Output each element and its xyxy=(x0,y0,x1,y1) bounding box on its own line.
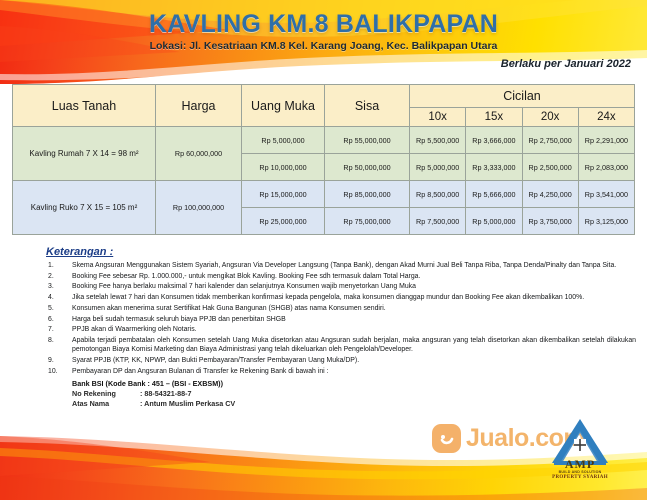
cell-luas-tanah: Kavling Ruko 7 X 15 = 105 m² xyxy=(13,181,156,235)
table-head: Luas Tanah Harga Uang Muka Sisa Cicilan … xyxy=(13,85,635,127)
bank-holder-label: Atas Nama xyxy=(72,399,140,408)
bank-account-value: : 88-54321-88-7 xyxy=(140,389,192,398)
list-item: 10.Pembayaran DP dan Angsuran Bulanan di… xyxy=(46,367,636,376)
cell-sisa: Rp 50,000,000 xyxy=(325,154,410,181)
list-item: 9.Syarat PPJB (KTP, KK, NPWP, dan Bukti … xyxy=(46,356,636,365)
list-item: 6.Harga beli sudah termasuk seluruh biay… xyxy=(46,315,636,324)
flyer-page: KAVLING KM.8 BALIKPAPAN Lokasi: Jl. Kesa… xyxy=(0,0,647,500)
amp-logo: AMP BUILD AND SOLUTION PROPERTY SYARIAH xyxy=(538,417,622,489)
location-subtitle: Lokasi: Jl. Kesatriaan KM.8 Kel. Karang … xyxy=(0,40,647,52)
bank-holder-value: : Antum Muslim Perkasa CV xyxy=(140,399,235,408)
list-item: 5.Konsumen akan menerima surat Sertifika… xyxy=(46,304,636,313)
cell-uang-muka: Rp 5,000,000 xyxy=(242,127,325,154)
cell-cicilan-10x: Rp 5,500,000 xyxy=(410,127,466,154)
cell-luas-tanah: Kavling Rumah 7 X 14 = 98 m² xyxy=(13,127,156,181)
list-item: 1.Skema Angsuran Menggunakan Sistem Syar… xyxy=(46,261,636,270)
list-item-number: 10. xyxy=(48,367,66,376)
col-header-tenor-20x: 20x xyxy=(522,108,578,127)
list-item-number: 1. xyxy=(48,261,66,270)
amp-tagline: BUILD AND SOLUTION xyxy=(538,470,622,474)
list-item-text: Skema Angsuran Menggunakan Sistem Syaria… xyxy=(72,262,616,269)
cell-cicilan-15x: Rp 5,000,000 xyxy=(466,208,522,235)
cell-uang-muka: Rp 15,000,000 xyxy=(242,181,325,208)
list-item-number: 6. xyxy=(48,315,66,324)
cell-cicilan-15x: Rp 3,666,000 xyxy=(466,127,522,154)
cell-cicilan-24x: Rp 2,083,000 xyxy=(578,154,634,181)
col-header-tenor-10x: 10x xyxy=(410,108,466,127)
jualo-smiley-icon xyxy=(432,424,461,453)
list-item: 3.Booking Fee hanya berlaku maksimal 7 h… xyxy=(46,282,636,291)
list-item-number: 5. xyxy=(48,304,66,313)
bank-name-line: Bank BSI (Kode Bank : 451 – (BSI - EXBSM… xyxy=(46,379,636,388)
col-header-tenor-24x: 24x xyxy=(578,108,634,127)
table-row: Kavling Rumah 7 X 14 = 98 m² Rp 60,000,0… xyxy=(13,127,635,154)
list-item-number: 4. xyxy=(48,293,66,302)
keterangan-section: Keterangan : 1.Skema Angsuran Menggunaka… xyxy=(46,246,636,408)
list-item-text: Booking Fee hanya berlaku maksimal 7 har… xyxy=(72,283,416,290)
cell-cicilan-15x: Rp 5,666,000 xyxy=(466,181,522,208)
list-item: 4.Jika setelah lewat 7 hari dan Konsumen… xyxy=(46,293,636,302)
list-item-text: Konsumen akan menerima surat Sertifikat … xyxy=(72,305,386,312)
list-item-text: Jika setelah lewat 7 hari dan Konsumen t… xyxy=(72,294,584,301)
list-item: 2.Booking Fee sebesar Rp. 1.000.000,- un… xyxy=(46,272,636,281)
list-item-text: PPJB akan di Waarmerking oleh Notaris. xyxy=(72,326,197,333)
cell-cicilan-10x: Rp 5,000,000 xyxy=(410,154,466,181)
cell-cicilan-20x: Rp 4,250,000 xyxy=(522,181,578,208)
list-item-number: 7. xyxy=(48,325,66,334)
header-banner: KAVLING KM.8 BALIKPAPAN Lokasi: Jl. Kesa… xyxy=(0,0,647,84)
col-header-uang-muka: Uang Muka xyxy=(242,85,325,127)
list-item-number: 3. xyxy=(48,282,66,291)
table-body: Kavling Rumah 7 X 14 = 98 m² Rp 60,000,0… xyxy=(13,127,635,235)
col-header-luas-tanah: Luas Tanah xyxy=(13,85,156,127)
list-item-text: Booking Fee sebesar Rp. 1.000.000,- untu… xyxy=(72,273,420,280)
amp-subtitle: PROPERTY SYARIAH xyxy=(538,475,622,480)
table-header-row-1: Luas Tanah Harga Uang Muka Sisa Cicilan xyxy=(13,85,635,108)
keterangan-title: Keterangan : xyxy=(46,246,636,258)
cell-uang-muka: Rp 25,000,000 xyxy=(242,208,325,235)
list-item-text: Harga beli sudah termasuk seluruh biaya … xyxy=(72,316,286,323)
cell-cicilan-24x: Rp 2,291,000 xyxy=(578,127,634,154)
price-table-container: Luas Tanah Harga Uang Muka Sisa Cicilan … xyxy=(12,84,635,226)
cell-cicilan-20x: Rp 3,750,000 xyxy=(522,208,578,235)
cell-cicilan-20x: Rp 2,750,000 xyxy=(522,127,578,154)
cell-cicilan-20x: Rp 2,500,000 xyxy=(522,154,578,181)
cell-cicilan-15x: Rp 3,333,000 xyxy=(466,154,522,181)
cell-cicilan-24x: Rp 3,125,000 xyxy=(578,208,634,235)
keterangan-list: 1.Skema Angsuran Menggunakan Sistem Syar… xyxy=(46,261,636,376)
list-item: 8.Apabila terjadi pembatalan oleh Konsum… xyxy=(46,336,636,354)
col-header-cicilan: Cicilan xyxy=(410,85,635,108)
col-header-tenor-15x: 15x xyxy=(466,108,522,127)
list-item-number: 8. xyxy=(48,336,66,345)
col-header-harga: Harga xyxy=(156,85,242,127)
list-item-text: Pembayaran DP dan Angsuran Bulanan di Tr… xyxy=(72,368,329,375)
col-header-sisa: Sisa xyxy=(325,85,410,127)
smiley-glyph xyxy=(437,429,457,449)
list-item-text: Apabila terjadi pembatalan oleh Konsumen… xyxy=(72,337,636,353)
cell-cicilan-10x: Rp 8,500,000 xyxy=(410,181,466,208)
cell-sisa: Rp 75,000,000 xyxy=(325,208,410,235)
cell-harga: Rp 100,000,000 xyxy=(156,181,242,235)
cell-uang-muka: Rp 10,000,000 xyxy=(242,154,325,181)
cell-sisa: Rp 85,000,000 xyxy=(325,181,410,208)
list-item: 7.PPJB akan di Waarmerking oleh Notaris. xyxy=(46,325,636,334)
bank-account-label: No Rekening xyxy=(72,389,140,398)
cell-harga: Rp 60,000,000 xyxy=(156,127,242,181)
list-item-number: 2. xyxy=(48,272,66,281)
cell-sisa: Rp 55,000,000 xyxy=(325,127,410,154)
cell-cicilan-10x: Rp 7,500,000 xyxy=(410,208,466,235)
price-table: Luas Tanah Harga Uang Muka Sisa Cicilan … xyxy=(12,84,635,235)
page-title: KAVLING KM.8 BALIKPAPAN xyxy=(0,10,647,39)
list-item-number: 9. xyxy=(48,356,66,365)
validity-note: Berlaku per Januari 2022 xyxy=(501,58,631,70)
list-item-text: Syarat PPJB (KTP, KK, NPWP, dan Bukti Pe… xyxy=(72,357,359,364)
table-row: Kavling Ruko 7 X 15 = 105 m² Rp 100,000,… xyxy=(13,181,635,208)
bank-holder-row: Atas Nama : Antum Muslim Perkasa CV xyxy=(46,399,636,408)
cell-cicilan-24x: Rp 3,541,000 xyxy=(578,181,634,208)
bank-account-row: No Rekening : 88-54321-88-7 xyxy=(46,389,636,398)
